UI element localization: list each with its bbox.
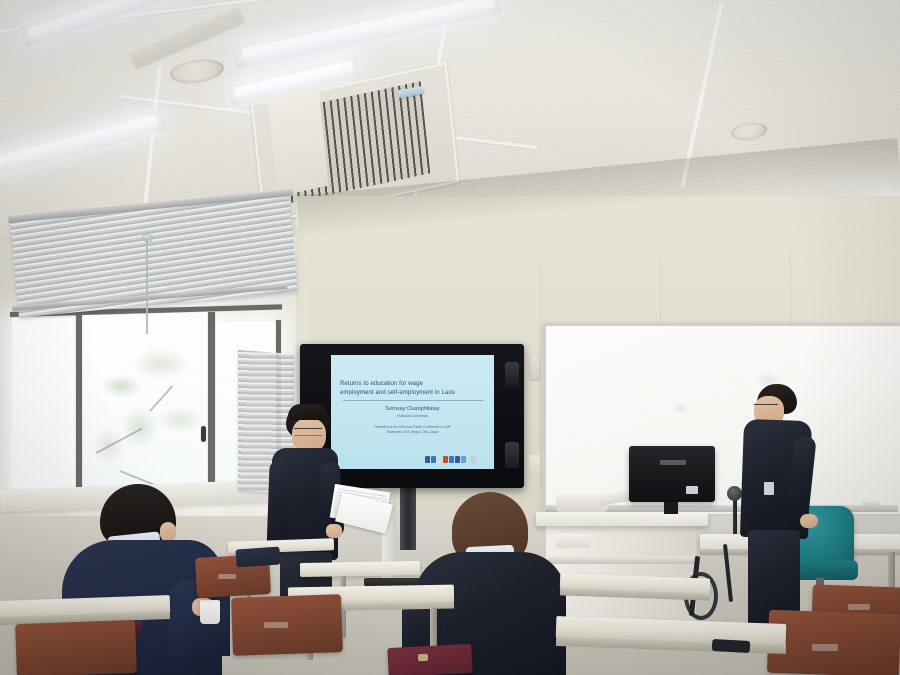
monitor-port <box>686 486 698 494</box>
student-desk <box>300 561 420 577</box>
classroom-chair[interactable] <box>15 620 137 675</box>
computer-monitor <box>629 446 715 502</box>
window-handle-icon[interactable] <box>201 426 206 442</box>
chair-handle-slot <box>218 574 236 579</box>
whiteboard <box>543 323 900 517</box>
window-mullion <box>76 310 82 500</box>
audience-left-ear <box>160 522 176 542</box>
slide-author: Somsay Ouanphilalay <box>331 405 494 413</box>
wall-panel-seam <box>540 268 541 488</box>
presentation-slide: Returns to education for wage employment… <box>331 355 494 469</box>
chair-handle-slot <box>264 622 288 628</box>
maroon-bag-clasp <box>418 654 428 662</box>
maroon-bag[interactable] <box>387 644 472 675</box>
chairperson-lanyard <box>764 482 774 495</box>
slideshow-toolbar[interactable] <box>425 455 476 463</box>
window-view-foliage <box>84 312 208 498</box>
toolbar-button-pointer[interactable] <box>437 456 442 463</box>
toolbar-button-slideshow[interactable] <box>455 456 460 463</box>
desk-item[interactable] <box>712 639 751 653</box>
toolbar-button-menu[interactable] <box>425 456 430 463</box>
toolbar-button-previous[interactable] <box>431 456 436 463</box>
microphone-head <box>727 486 742 501</box>
av-podium-top <box>536 512 708 526</box>
display-handle <box>505 442 519 468</box>
paper-cup[interactable] <box>200 600 220 624</box>
display-stand-neck <box>400 488 416 550</box>
wall-outlet-icon[interactable] <box>529 455 540 475</box>
classroom-presentation-photo: Returns to education for wage employment… <box>0 0 900 675</box>
presenter-glasses-icon <box>294 428 322 436</box>
air-vent-inner <box>267 86 328 197</box>
chair-handle-slot <box>812 644 838 651</box>
slide-title: Returns to education for wage employment… <box>340 380 488 397</box>
presenter-hair-front <box>288 404 328 420</box>
av-podium-shelf <box>548 556 694 564</box>
toolbar-button-next[interactable] <box>449 456 454 463</box>
chair-handle-slot <box>848 604 870 610</box>
toolbar-button-options[interactable] <box>461 456 466 463</box>
window-blinds-cord[interactable] <box>146 238 148 334</box>
wall-control-panel[interactable] <box>529 355 540 381</box>
whiteboard-eraser[interactable] <box>862 500 880 507</box>
toolbar-button-expand[interactable] <box>471 456 476 463</box>
window-pane-left <box>12 318 76 498</box>
slide-conference-info: Presented at the 14th Asia-Pacific Confe… <box>331 425 494 435</box>
monitor-logo <box>660 460 686 465</box>
presenter-hand <box>326 524 342 538</box>
classroom-chair[interactable] <box>767 610 900 675</box>
monitor-stand <box>664 502 678 514</box>
chairperson-glasses-icon <box>754 404 778 410</box>
dark-bag[interactable] <box>235 546 280 567</box>
toolbar-button-pen[interactable] <box>443 456 448 463</box>
whiteboard-smudge <box>672 402 690 414</box>
slide-affiliation: Hokkaido University <box>331 414 494 419</box>
window-mullion <box>208 312 215 498</box>
chairperson-hand <box>800 514 818 528</box>
window-blinds-cord-hook <box>142 234 153 242</box>
slide-divider <box>343 400 483 401</box>
av-podium-panel[interactable] <box>556 534 590 548</box>
display-handle <box>505 362 519 388</box>
